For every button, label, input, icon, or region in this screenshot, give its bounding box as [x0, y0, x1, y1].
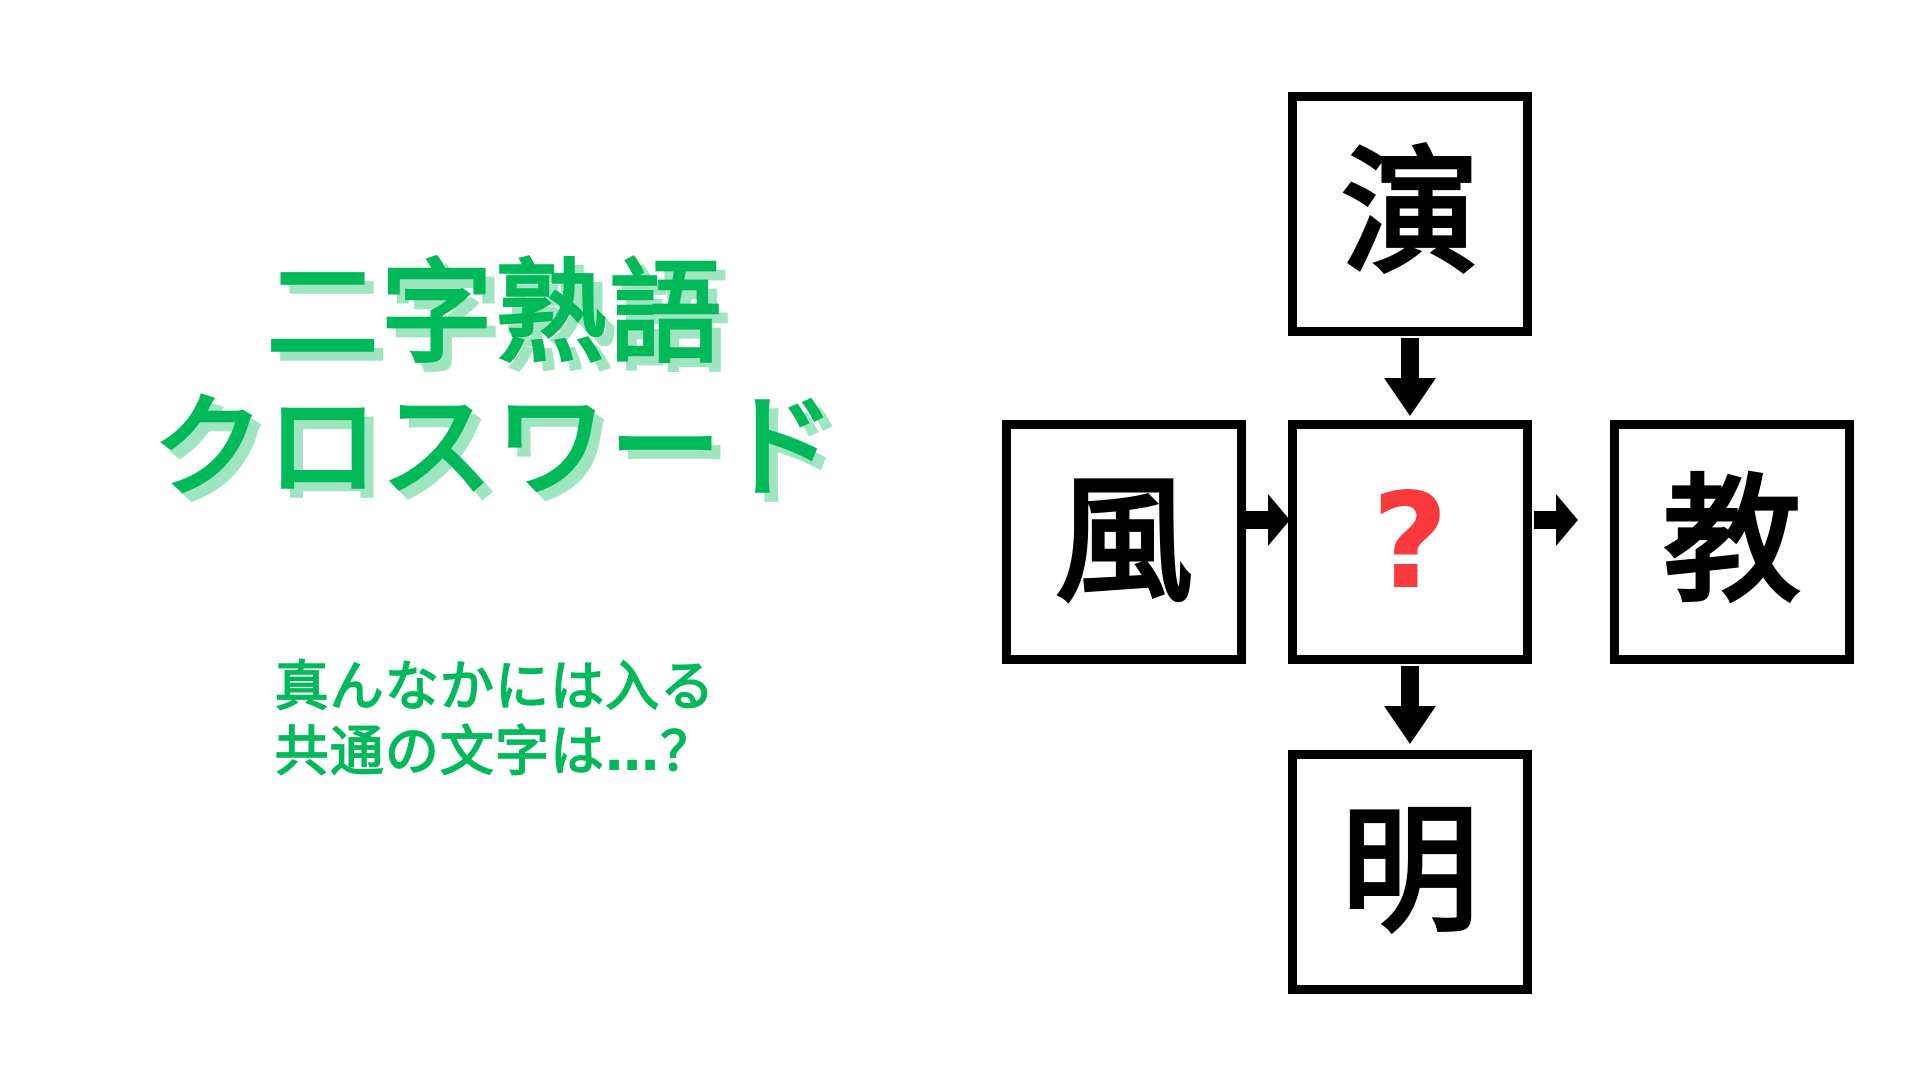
arrow-right-icon [1246, 494, 1290, 546]
subtitle-line-1: 真んなかには入る [0, 655, 990, 720]
crossword-cell-bottom: 明 [1288, 750, 1532, 994]
title-line-secondary: クロスワード [0, 384, 990, 514]
crossword-cell-bottom-label: 明 [1341, 803, 1479, 941]
title-line-primary: 二字熟語 [0, 250, 990, 380]
crossword-cell-left: 風 [1002, 420, 1246, 664]
crossword-cell-top-label: 演 [1341, 145, 1479, 283]
subtitle-line-2: 共通の文字は…？ [0, 720, 990, 785]
crossword-cell-right-label: 教 [1663, 473, 1801, 611]
crossword-diagram: 演 風 ? 教 明 [980, 0, 1920, 1080]
crossword-cell-left-label: 風 [1055, 473, 1193, 611]
arrow-down-icon [1384, 338, 1436, 416]
subtitle: 真んなかには入る 共通の文字は…？ [0, 655, 990, 785]
main-title: 二字熟語 クロスワード [0, 250, 990, 514]
crossword-cell-center-answer[interactable]: ? [1288, 420, 1532, 664]
crossword-cell-center-label: ? [1372, 476, 1449, 608]
crossword-cell-right: 教 [1610, 420, 1854, 664]
arrow-down-icon [1384, 666, 1436, 744]
arrow-right-icon [1534, 494, 1578, 546]
title-panel: 二字熟語 クロスワード 真んなかには入る 共通の文字は…？ [0, 0, 990, 1080]
crossword-cell-top: 演 [1288, 92, 1532, 336]
slide-root: 二字熟語 クロスワード 真んなかには入る 共通の文字は…？ 演 風 ? 教 明 [0, 0, 1920, 1080]
